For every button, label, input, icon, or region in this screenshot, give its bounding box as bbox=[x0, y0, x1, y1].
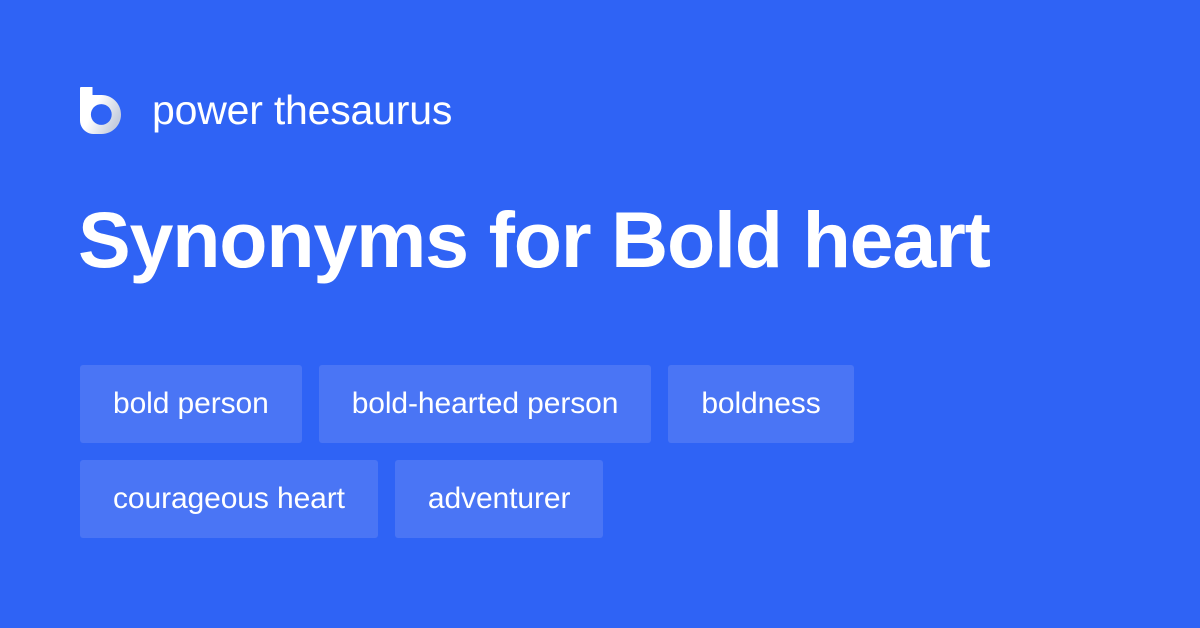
synonym-chip[interactable]: adventurer bbox=[395, 460, 603, 538]
brand-name: power thesaurus bbox=[152, 90, 452, 131]
synonym-chip[interactable]: bold-hearted person bbox=[319, 365, 652, 443]
page-title: Synonyms for Bold heart bbox=[78, 196, 990, 284]
brand-header[interactable]: power thesaurus bbox=[80, 84, 452, 136]
og-card: power thesaurus Synonyms for Bold heart … bbox=[0, 0, 1200, 628]
synonym-chip[interactable]: courageous heart bbox=[80, 460, 378, 538]
power-thesaurus-b-logo-icon bbox=[80, 87, 121, 134]
synonym-chip-list: bold person bold-hearted person boldness… bbox=[80, 365, 1140, 538]
synonym-chip[interactable]: boldness bbox=[668, 365, 853, 443]
synonym-chip[interactable]: bold person bbox=[80, 365, 302, 443]
